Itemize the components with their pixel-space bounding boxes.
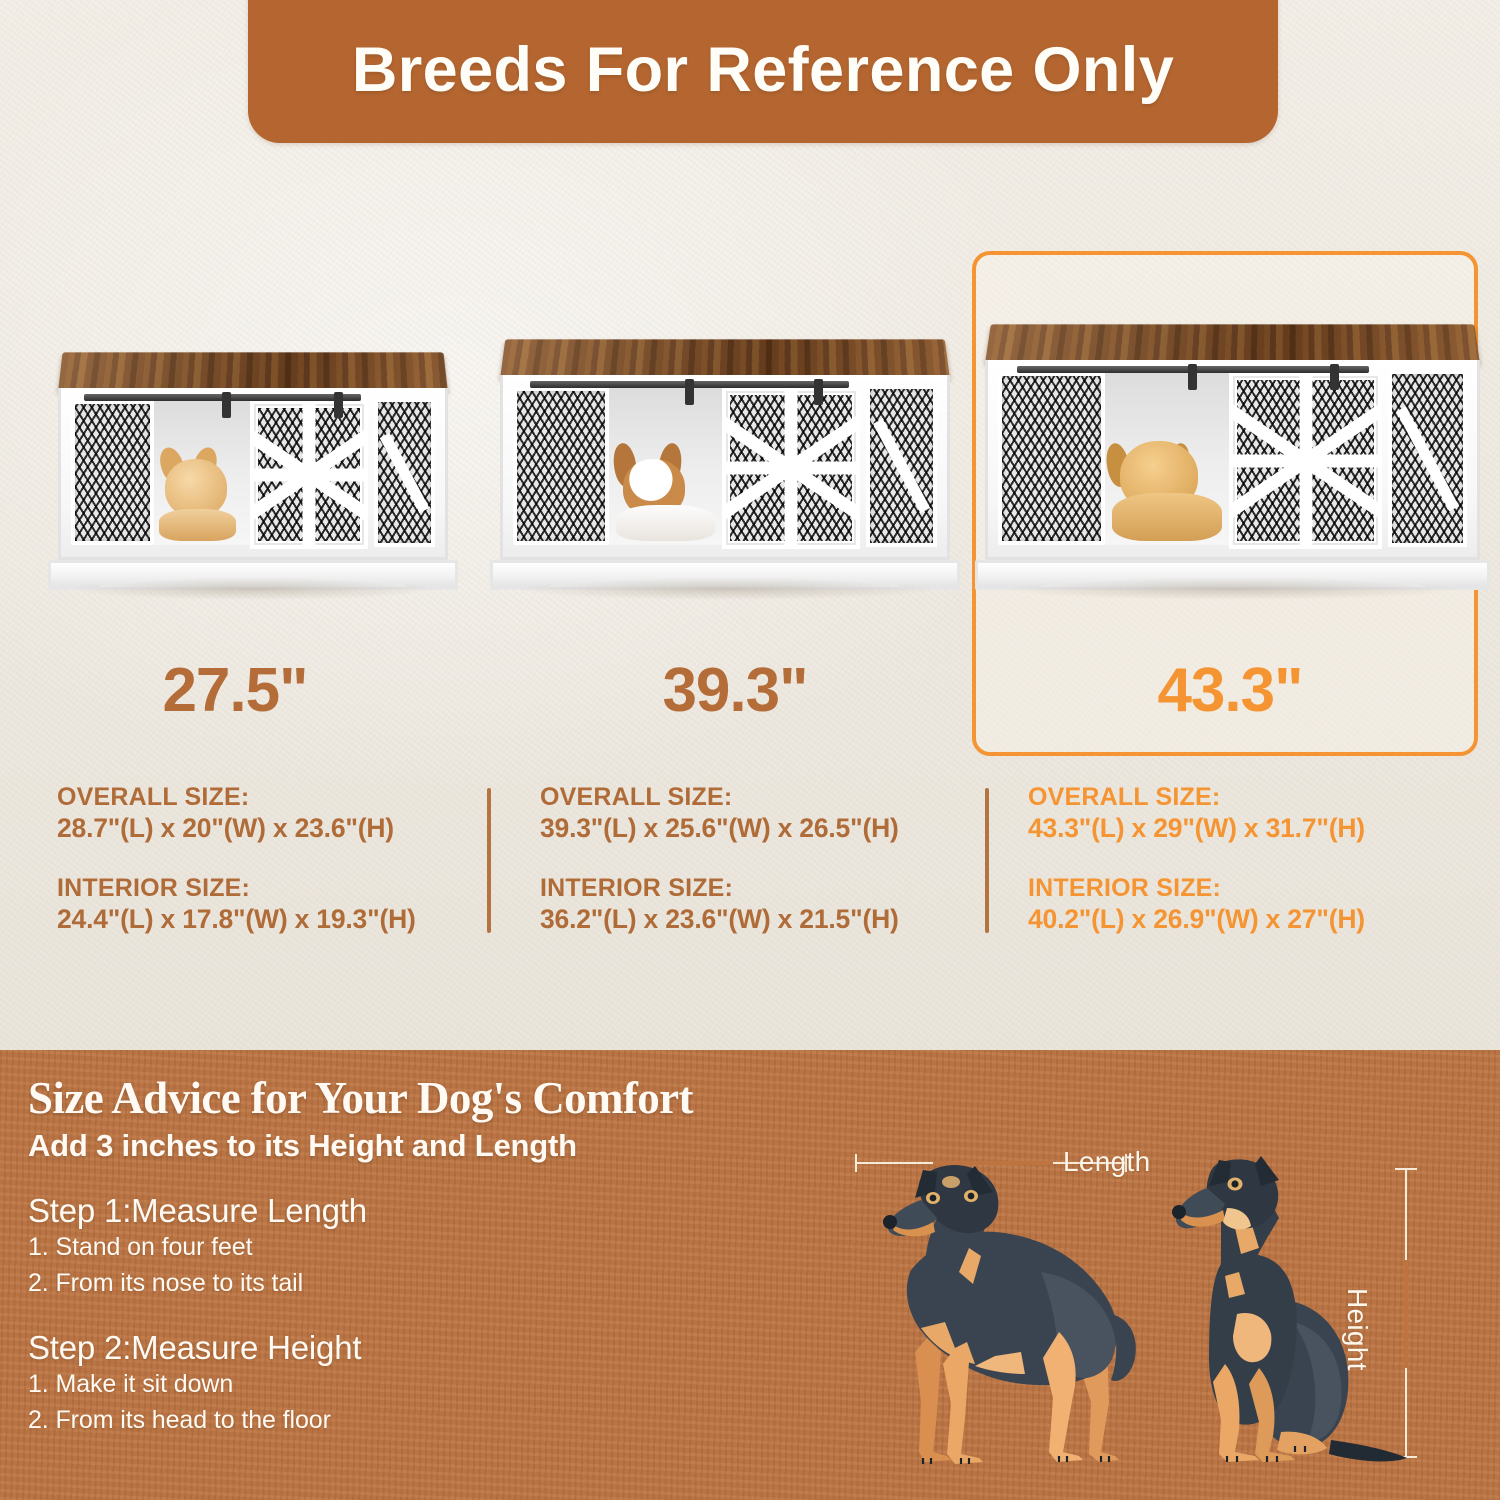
interior-size-value: 24.4"(L) x 17.8"(W) x 19.3"(H) bbox=[57, 904, 477, 936]
door-diagonal-brace bbox=[380, 432, 430, 512]
left-mesh-panel bbox=[998, 372, 1105, 545]
rail-roller-left bbox=[1188, 364, 1197, 390]
size-advice-panel: Size Advice for Your Dog's Comfort Add 3… bbox=[0, 1050, 1500, 1500]
right-hinged-door bbox=[1388, 370, 1467, 547]
crate-interior bbox=[154, 398, 250, 545]
door-vertical-bar bbox=[784, 391, 797, 545]
spec-column-39-3: OVERALL SIZE: 39.3"(L) x 25.6"(W) x 26.5… bbox=[540, 783, 970, 936]
door-diagonal-brace bbox=[1396, 406, 1459, 511]
rail-roller-left bbox=[222, 392, 231, 418]
spec-spacer bbox=[540, 844, 970, 874]
size-label-39-3: 39.3" bbox=[505, 655, 965, 726]
crate-interior bbox=[609, 385, 721, 545]
column-divider-2 bbox=[985, 788, 989, 933]
product-image-27-5 bbox=[58, 346, 448, 590]
overall-size-value: 28.7"(L) x 20"(W) x 23.6"(H) bbox=[57, 813, 477, 845]
wood-tabletop bbox=[500, 339, 950, 379]
product-image-43-3 bbox=[985, 318, 1480, 590]
header-banner: Breeds For Reference Only bbox=[248, 0, 1278, 143]
measurement-diagram: Length Height bbox=[845, 1050, 1500, 1500]
crate-body bbox=[58, 388, 448, 560]
spec-column-27-5: OVERALL SIZE: 28.7"(L) x 20"(W) x 23.6"(… bbox=[57, 783, 477, 936]
step-2: Step 2:Measure Height 1. Make it sit dow… bbox=[28, 1329, 838, 1438]
column-divider-1 bbox=[487, 788, 491, 933]
interior-size-heading: INTERIOR SIZE: bbox=[1028, 874, 1458, 904]
rail-roller-right bbox=[814, 379, 823, 405]
step-1: Step 1:Measure Length 1. Stand on four f… bbox=[28, 1192, 838, 1301]
left-mesh-panel bbox=[513, 387, 609, 545]
sliding-barn-door bbox=[1229, 372, 1382, 549]
product-row bbox=[0, 250, 1500, 720]
dog-body bbox=[616, 505, 715, 541]
dog-crate-furniture-icon bbox=[58, 346, 448, 590]
spec-columns: OVERALL SIZE: 28.7"(L) x 20"(W) x 23.6"(… bbox=[0, 783, 1500, 958]
overall-size-value: 43.3"(L) x 29"(W) x 31.7"(H) bbox=[1028, 813, 1458, 845]
infographic-page: Breeds For Reference Only bbox=[0, 0, 1500, 1500]
sliding-barn-door bbox=[250, 400, 368, 549]
step-2-line-1: 1. Make it sit down bbox=[28, 1367, 838, 1403]
advice-title: Size Advice for Your Dog's Comfort bbox=[28, 1072, 838, 1124]
step-1-line-2: 2. From its nose to its tail bbox=[28, 1266, 838, 1302]
crate-interior bbox=[1105, 370, 1230, 545]
right-hinged-door bbox=[374, 398, 435, 547]
dog-crate-furniture-icon bbox=[500, 333, 950, 590]
spec-spacer bbox=[1028, 844, 1458, 874]
spec-spacer bbox=[57, 844, 477, 874]
product-image-39-3 bbox=[500, 333, 950, 590]
size-label-27-5: 27.5" bbox=[0, 655, 470, 726]
banner-title: Breeds For Reference Only bbox=[352, 34, 1174, 106]
dog-crate-furniture-icon bbox=[985, 318, 1480, 590]
overall-size-heading: OVERALL SIZE: bbox=[540, 783, 970, 813]
step-1-line-1: 1. Stand on four feet bbox=[28, 1230, 838, 1266]
step-2-line-2: 2. From its head to the floor bbox=[28, 1403, 838, 1439]
step-1-title: Step 1:Measure Length bbox=[28, 1192, 838, 1230]
wood-tabletop bbox=[58, 352, 448, 392]
rail-roller-right bbox=[1330, 364, 1339, 390]
dog-body bbox=[1112, 493, 1222, 541]
spec-column-43-3: OVERALL SIZE: 43.3"(L) x 29"(W) x 31.7"(… bbox=[1028, 783, 1458, 936]
product-shadow bbox=[514, 578, 937, 600]
left-mesh-panel bbox=[71, 400, 154, 545]
product-shadow bbox=[1000, 578, 1465, 600]
overall-size-heading: OVERALL SIZE: bbox=[57, 783, 477, 813]
door-vertical-bar bbox=[1299, 376, 1312, 545]
door-vertical-bar bbox=[302, 404, 315, 545]
rail-roller-right bbox=[334, 392, 343, 418]
dog-body bbox=[159, 509, 236, 541]
wood-tabletop bbox=[985, 324, 1480, 364]
interior-size-value: 40.2"(L) x 26.9"(W) x 27"(H) bbox=[1028, 904, 1458, 936]
size-label-43-3: 43.3" bbox=[985, 655, 1475, 726]
door-diagonal-brace bbox=[873, 419, 930, 514]
interior-size-heading: INTERIOR SIZE: bbox=[540, 874, 970, 904]
sliding-barn-door bbox=[722, 387, 860, 549]
overall-size-value: 39.3"(L) x 25.6"(W) x 26.5"(H) bbox=[540, 813, 970, 845]
crate-body bbox=[985, 360, 1480, 560]
overall-size-heading: OVERALL SIZE: bbox=[1028, 783, 1458, 813]
advice-subtitle: Add 3 inches to its Height and Length bbox=[28, 1128, 838, 1164]
step-2-title: Step 2:Measure Height bbox=[28, 1329, 838, 1367]
advice-text-block: Size Advice for Your Dog's Comfort Add 3… bbox=[28, 1072, 838, 1438]
product-shadow bbox=[70, 578, 437, 600]
doberman-sitting-icon bbox=[1163, 1152, 1423, 1482]
doberman-standing-icon bbox=[863, 1152, 1163, 1482]
interior-size-value: 36.2"(L) x 23.6"(W) x 21.5"(H) bbox=[540, 904, 970, 936]
interior-size-heading: INTERIOR SIZE: bbox=[57, 874, 477, 904]
length-cap-left bbox=[855, 1154, 857, 1172]
crate-body bbox=[500, 375, 950, 560]
right-hinged-door bbox=[866, 385, 937, 547]
rail-roller-left bbox=[685, 379, 694, 405]
